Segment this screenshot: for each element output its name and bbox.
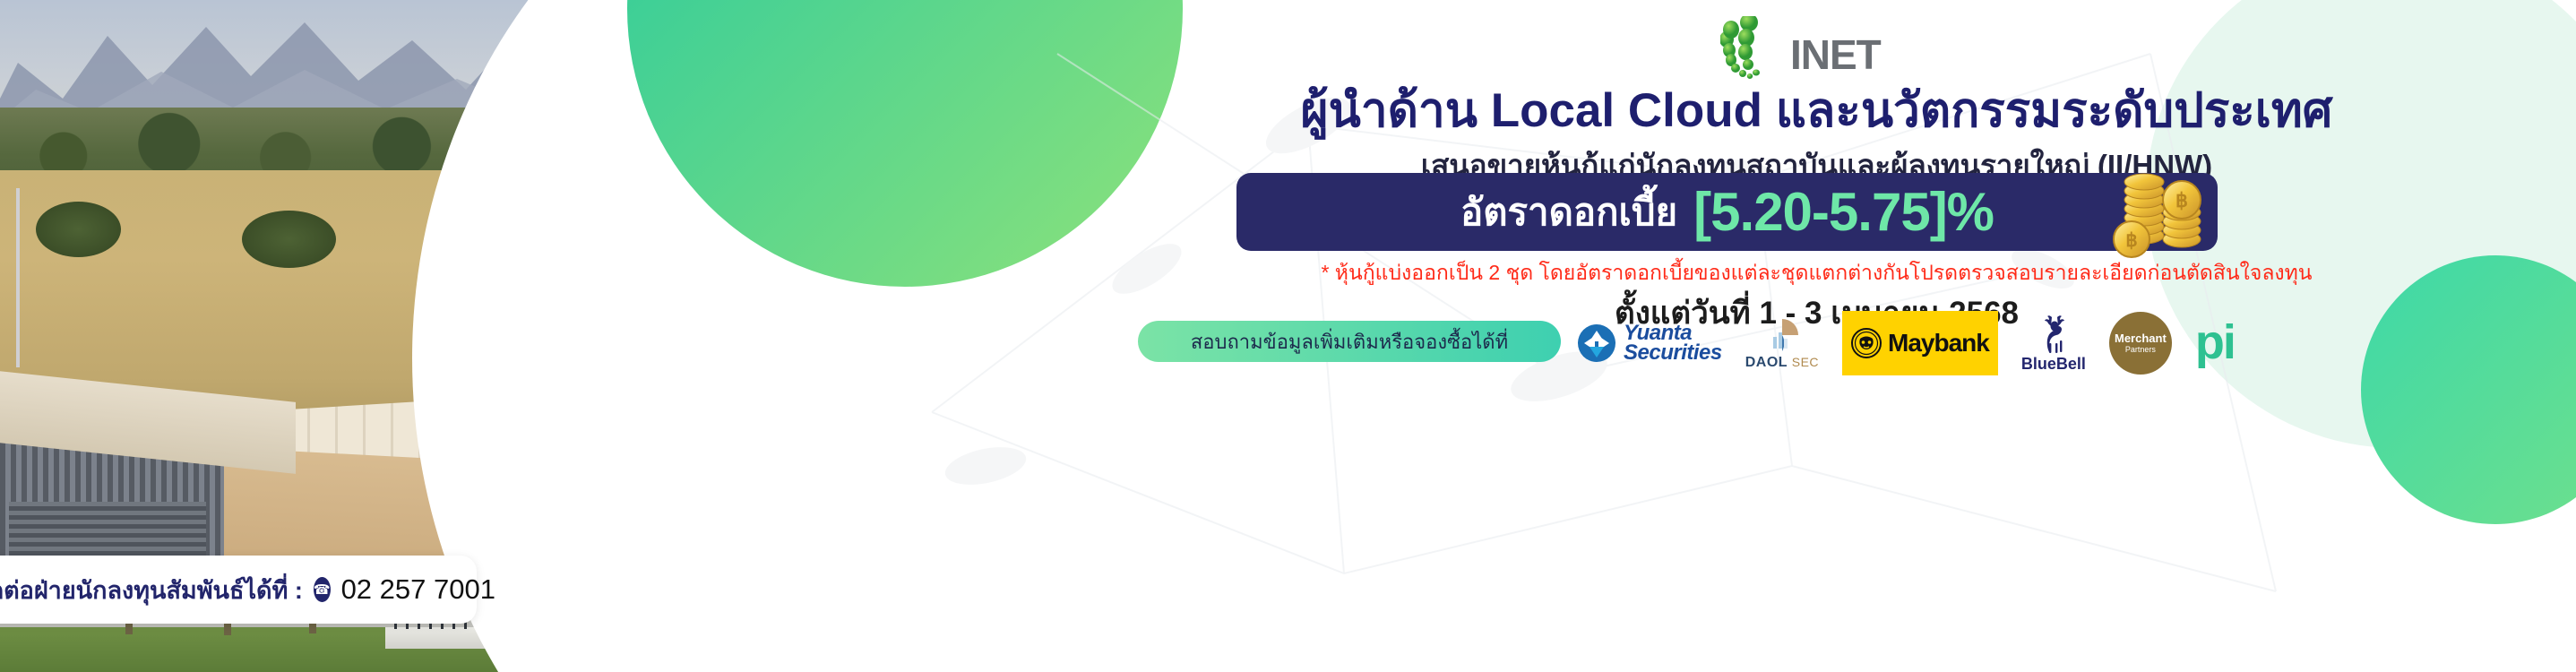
broker-daol[interactable]: DAOL SEC: [1745, 311, 1819, 375]
svg-text:฿: ฿: [2175, 189, 2188, 211]
merchant-line2: Partners: [2125, 345, 2156, 354]
maybank-tiger-icon: [1851, 328, 1882, 358]
gold-coins-icon: ฿ ฿: [2108, 159, 2214, 259]
broker-bluebell[interactable]: BlueBell: [2021, 311, 2086, 375]
cta-button[interactable]: สอบถามข้อมูลเพิ่มเติมหรือจองซื้อได้ที่: [1138, 321, 1561, 362]
yuanta-line2: Securities: [1624, 343, 1722, 363]
merchant-circle-icon: Merchant Partners: [2109, 312, 2172, 375]
interest-rate-box: อัตราดอกเบี้ย [5.20-5.75]%: [1236, 173, 2218, 251]
content-column: INET ผู้นำด้าน Local Cloud และนวัตกรรมระ…: [1057, 0, 2576, 672]
daol-pie-icon: [1760, 315, 1805, 355]
daol-text: DAOL SEC: [1745, 355, 1819, 371]
merchant-line1: Merchant: [2115, 332, 2167, 345]
bluebell-deer-icon: [2034, 314, 2073, 355]
tree: [242, 211, 336, 268]
phone-icon: ☎: [314, 577, 331, 602]
daol-line1: DAOL: [1745, 355, 1788, 370]
svg-text:฿: ฿: [2125, 230, 2137, 251]
interest-rate-value: [5.20-5.75]%: [1693, 181, 1994, 243]
bluebell-text: BlueBell: [2021, 355, 2086, 374]
utility-pole: [16, 188, 20, 367]
pi-logo-icon: pi: [2195, 323, 2235, 362]
inet-logo: INET: [1720, 16, 1989, 82]
broker-pi[interactable]: pi: [2195, 311, 2235, 375]
promo-banner: INET ผู้นำด้าน Local Cloud และนวัตกรรมระ…: [0, 0, 2576, 672]
broker-logos: Yuanta Securities DAOL SEC: [1577, 309, 2563, 377]
daol-line2: SEC: [1792, 355, 1819, 369]
broker-maybank[interactable]: Maybank: [1842, 311, 1998, 375]
disclaimer-note: * หุ้นกู้แบ่งออกเป็น 2 ชุด โดยอัตราดอกเบ…: [1057, 257, 2576, 289]
contact-label: ติดต่อฝ่ายนักลงทุนสัมพันธ์ได้ที่ :: [0, 571, 303, 609]
yuanta-star-icon: [1577, 323, 1616, 363]
contact-panel: ติดต่อฝ่ายนักลงทุนสัมพันธ์ได้ที่ : ☎ 02 …: [0, 556, 477, 624]
inet-logo-text: INET: [1790, 30, 1881, 79]
interest-rate-label: อัตราดอกเบี้ย: [1460, 183, 1677, 242]
broker-yuanta[interactable]: Yuanta Securities: [1577, 311, 1722, 375]
inet-dots-logo-icon: [1720, 16, 1790, 82]
tree: [36, 202, 121, 257]
headline: ผู้นำด้าน Local Cloud และนวัตกรรมระดับปร…: [1057, 82, 2576, 140]
broker-merchant[interactable]: Merchant Partners: [2109, 311, 2172, 375]
maybank-text: Maybank: [1888, 329, 1989, 358]
contact-phone-number: 02 257 7001: [341, 573, 495, 606]
